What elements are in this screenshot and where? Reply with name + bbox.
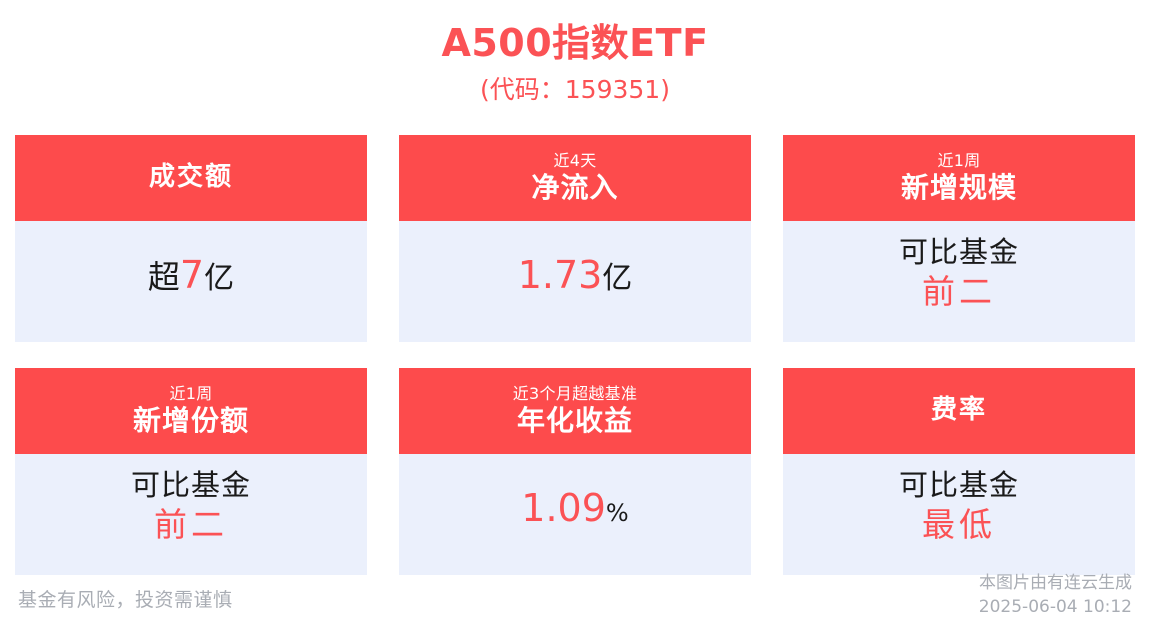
metric-card-new-scale: 近1周 新增规模 可比基金 前二 — [783, 135, 1135, 342]
card-heading: 新增规模 — [901, 171, 1017, 205]
value-main: 7 — [180, 254, 204, 298]
value-bottom: 前二 — [922, 272, 996, 312]
metric-card-turnover: 成交额 超 7 亿 — [15, 135, 367, 342]
card-body: 超 7 亿 — [15, 221, 367, 342]
metric-card-annualized-return: 近3个月超越基准 年化收益 1.09 % — [399, 368, 751, 575]
card-body: 1.09 % — [399, 454, 751, 575]
value-suffix: 亿 — [204, 262, 234, 297]
source-label: 本图片由有连云生成 — [979, 571, 1132, 596]
value-bottom: 最低 — [922, 505, 996, 545]
page-title: A500指数ETF — [0, 22, 1150, 66]
card-header: 近4天 净流入 — [399, 135, 751, 221]
value-suffix: 亿 — [602, 262, 632, 297]
value-suffix: % — [606, 500, 629, 528]
card-header: 成交额 — [15, 135, 367, 221]
metric-card-fee-rate: 费率 可比基金 最低 — [783, 368, 1135, 575]
generation-credit: 本图片由有连云生成 2025-06-04 10:12 — [979, 571, 1132, 620]
card-body: 可比基金 前二 — [783, 221, 1135, 342]
card-heading: 净流入 — [531, 171, 618, 205]
card-eyebrow: 近1周 — [169, 384, 212, 404]
card-header: 近1周 新增规模 — [783, 135, 1135, 221]
value-top: 可比基金 — [899, 468, 1019, 503]
value-prefix: 超 — [148, 259, 180, 296]
card-value: 1.09 % — [521, 487, 628, 531]
poster-page: A500指数ETF (代码：159351) 成交额 超 7 亿 近4天 净流入 — [0, 0, 1150, 632]
card-header: 费率 — [783, 368, 1135, 454]
card-heading: 费率 — [931, 395, 987, 426]
metric-card-new-shares: 近1周 新增份额 可比基金 前二 — [15, 368, 367, 575]
card-heading: 新增份额 — [133, 404, 249, 438]
card-header: 近1周 新增份额 — [15, 368, 367, 454]
metric-card-net-inflow: 近4天 净流入 1.73 亿 — [399, 135, 751, 342]
page-subtitle-code: (代码：159351) — [0, 74, 1150, 107]
card-heading: 成交额 — [149, 162, 233, 193]
value-top: 可比基金 — [131, 468, 251, 503]
card-body: 1.73 亿 — [399, 221, 751, 342]
poster-header: A500指数ETF (代码：159351) — [0, 0, 1150, 106]
poster-footer: 基金有风险，投资需谨慎 本图片由有连云生成 2025-06-04 10:12 — [0, 570, 1150, 632]
card-body: 可比基金 最低 — [783, 454, 1135, 575]
card-eyebrow: 近4天 — [553, 151, 596, 171]
card-value: 1.73 亿 — [518, 254, 633, 298]
value-bottom: 前二 — [154, 505, 228, 545]
value-main: 1.09 — [521, 487, 606, 531]
card-header: 近3个月超越基准 年化收益 — [399, 368, 751, 454]
metric-card-grid: 成交额 超 7 亿 近4天 净流入 1.73 亿 — [15, 135, 1135, 575]
card-heading: 年化收益 — [517, 404, 633, 438]
risk-disclaimer: 基金有风险，投资需谨慎 — [18, 587, 233, 620]
card-eyebrow: 近1周 — [937, 151, 980, 171]
value-top: 可比基金 — [899, 235, 1019, 270]
card-value: 超 7 亿 — [148, 254, 234, 298]
card-body: 可比基金 前二 — [15, 454, 367, 575]
card-eyebrow: 近3个月超越基准 — [513, 384, 638, 404]
value-main: 1.73 — [518, 254, 603, 298]
timestamp-label: 2025-06-04 10:12 — [979, 595, 1132, 620]
